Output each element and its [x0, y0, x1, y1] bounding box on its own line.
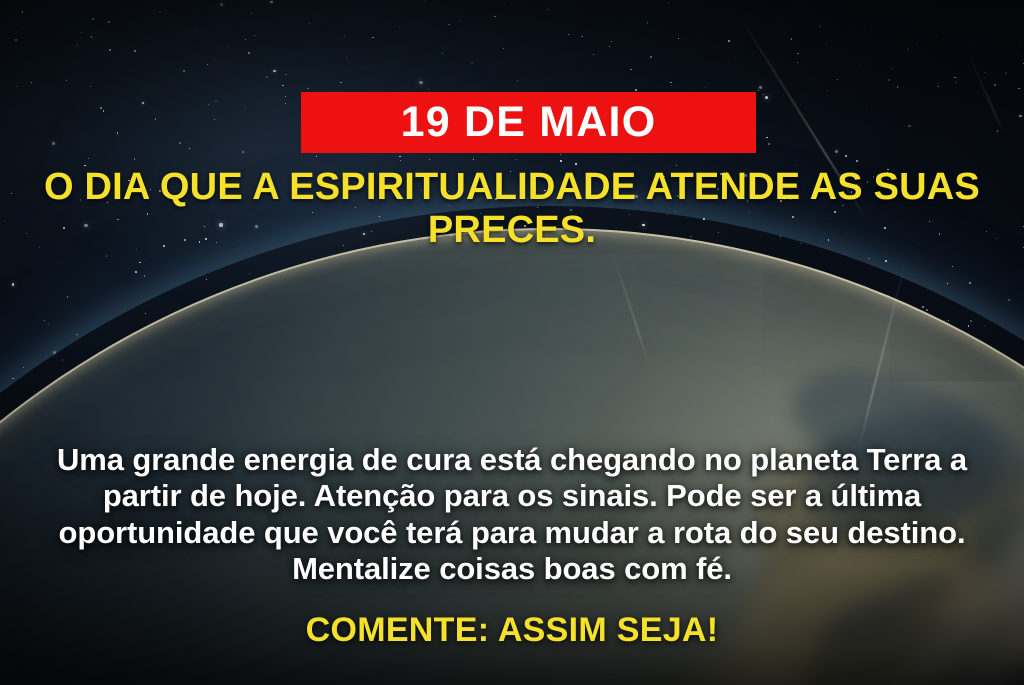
headline-text: O DIA QUE A ESPIRITUALIDADE ATENDE AS SU… [0, 166, 1024, 251]
date-banner-label: 19 DE MAIO [401, 101, 657, 144]
poster-canvas: 19 DE MAIO O DIA QUE A ESPIRITUALIDADE A… [0, 0, 1024, 685]
body-paragraph: Uma grande energia de cura está chegando… [0, 442, 1024, 587]
poster-content: 19 DE MAIO O DIA QUE A ESPIRITUALIDADE A… [0, 0, 1024, 685]
date-banner: 19 DE MAIO [301, 92, 756, 153]
call-to-action-text: COMENTE: ASSIM SEJA! [0, 612, 1024, 649]
